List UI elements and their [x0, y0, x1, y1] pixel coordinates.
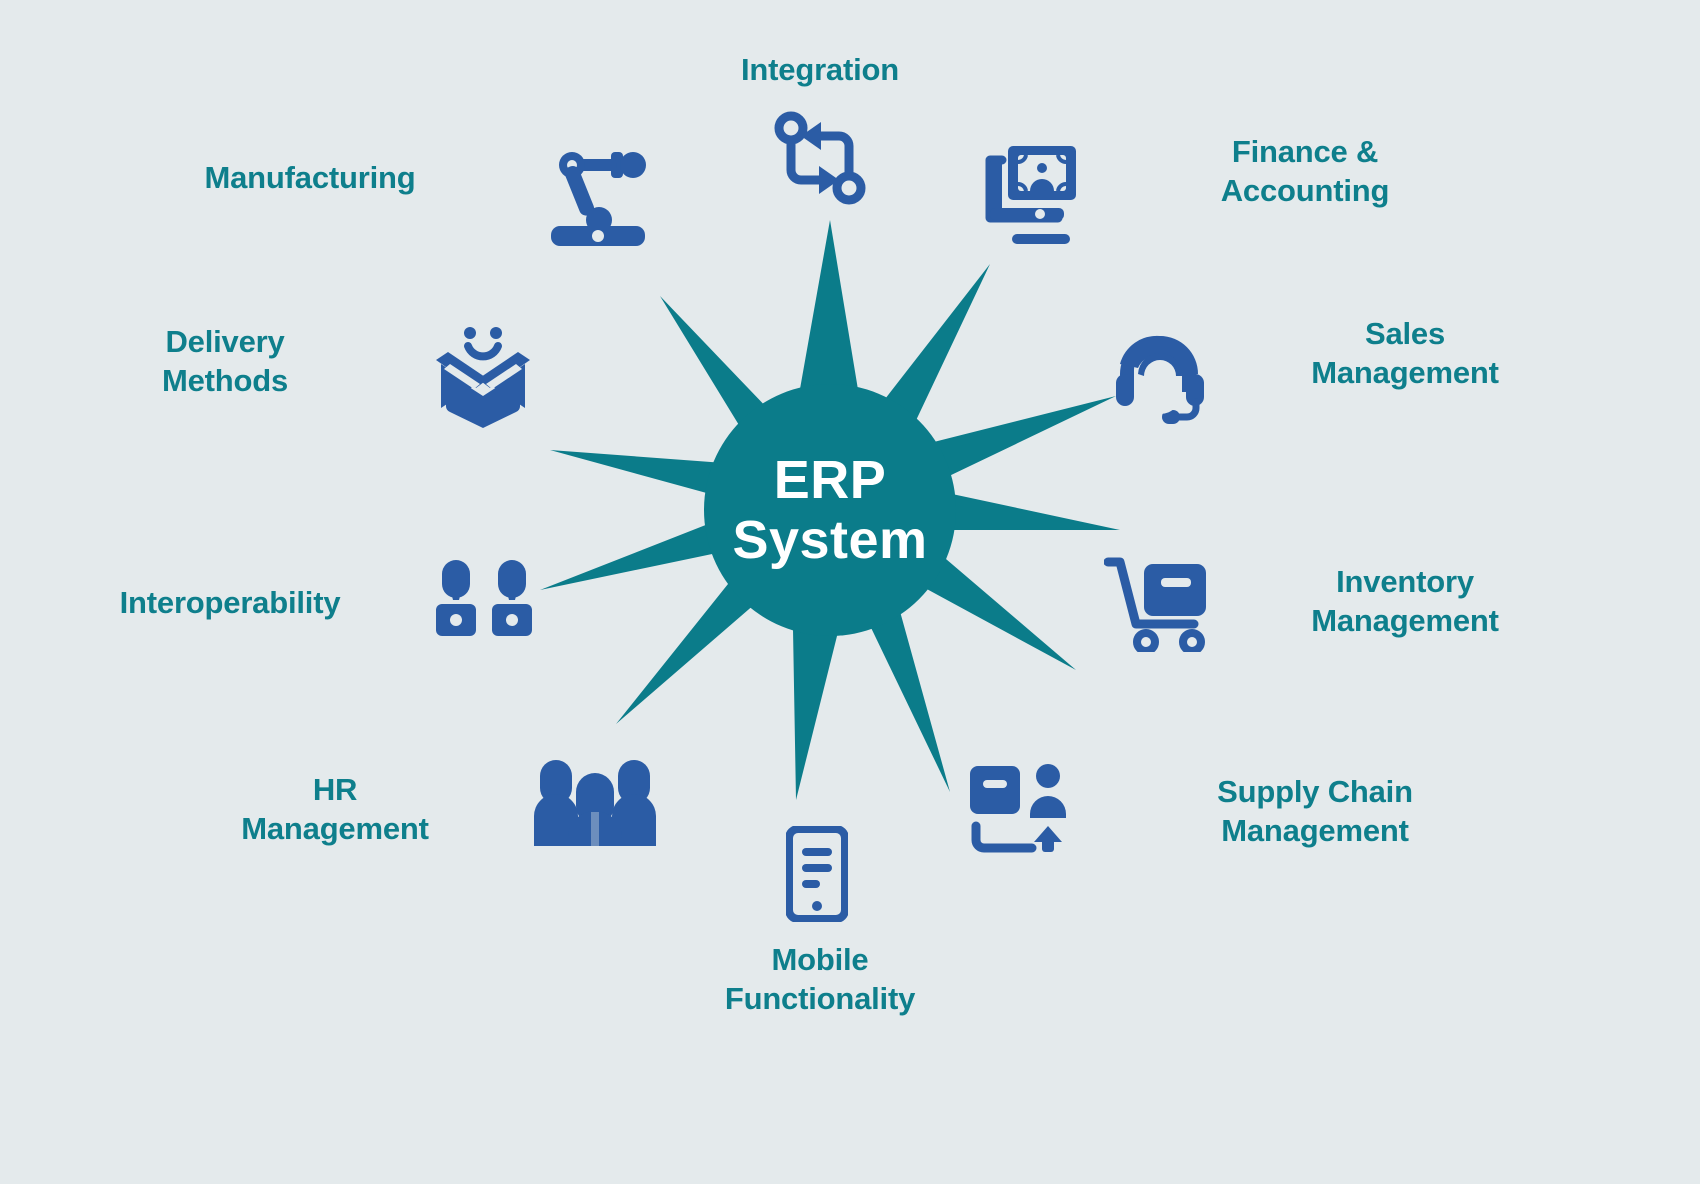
node-label-mobile-functionality: Mobile Functionality: [660, 940, 980, 1019]
node-label-finance-accounting-line-1: Accounting: [1140, 171, 1470, 210]
node-label-inventory-management-line-1: Management: [1250, 601, 1560, 640]
smartphone-document-icon: [786, 826, 848, 922]
node-label-sales-management-line-1: Management: [1250, 353, 1560, 392]
node-label-delivery-methods: Delivery Methods: [80, 322, 370, 401]
node-label-sales-management-line-0: Sales: [1250, 314, 1560, 353]
node-label-delivery-methods-line-0: Delivery: [80, 322, 370, 361]
monitor-banknote-icon: [978, 142, 1082, 246]
node-label-integration: Integration: [660, 50, 980, 89]
people-group-icon: [534, 758, 656, 846]
node-label-hr-management: HR Management: [170, 770, 500, 849]
node-label-manufacturing: Manufacturing: [120, 158, 500, 197]
two-people-badge-icon: [430, 560, 538, 640]
node-label-finance-accounting: Finance & Accounting: [1140, 132, 1470, 211]
headset-agent-icon: [1112, 330, 1208, 430]
open-box-smile-icon: [428, 320, 538, 430]
integration-arrows-icon: [765, 108, 875, 208]
node-label-integration-line-0: Integration: [660, 50, 980, 89]
erp-system-diagram: ERP System: [0, 0, 1700, 1184]
box-person-arrow-icon: [968, 756, 1072, 856]
node-label-sales-management: Sales Management: [1250, 314, 1560, 393]
node-label-manufacturing-line-0: Manufacturing: [120, 158, 500, 197]
node-label-finance-accounting-line-0: Finance &: [1140, 132, 1470, 171]
node-label-supply-chain-management-line-0: Supply Chain: [1150, 772, 1480, 811]
node-label-mobile-functionality-line-1: Functionality: [660, 979, 980, 1018]
node-label-hr-management-line-0: HR: [170, 770, 500, 809]
node-label-supply-chain-management-line-1: Management: [1150, 811, 1480, 850]
node-label-hr-management-line-1: Management: [170, 809, 500, 848]
node-label-mobile-functionality-line-0: Mobile: [660, 940, 980, 979]
node-label-interoperability-line-0: Interoperability: [60, 583, 400, 622]
node-label-delivery-methods-line-1: Methods: [80, 361, 370, 400]
node-label-inventory-management: Inventory Management: [1250, 562, 1560, 641]
central-starburst: [520, 200, 1140, 820]
robot-arm-icon: [545, 148, 650, 248]
shopping-cart-box-icon: [1104, 550, 1214, 652]
node-label-inventory-management-line-0: Inventory: [1250, 562, 1560, 601]
node-label-interoperability: Interoperability: [60, 583, 400, 622]
node-label-supply-chain-management: Supply Chain Management: [1150, 772, 1480, 851]
